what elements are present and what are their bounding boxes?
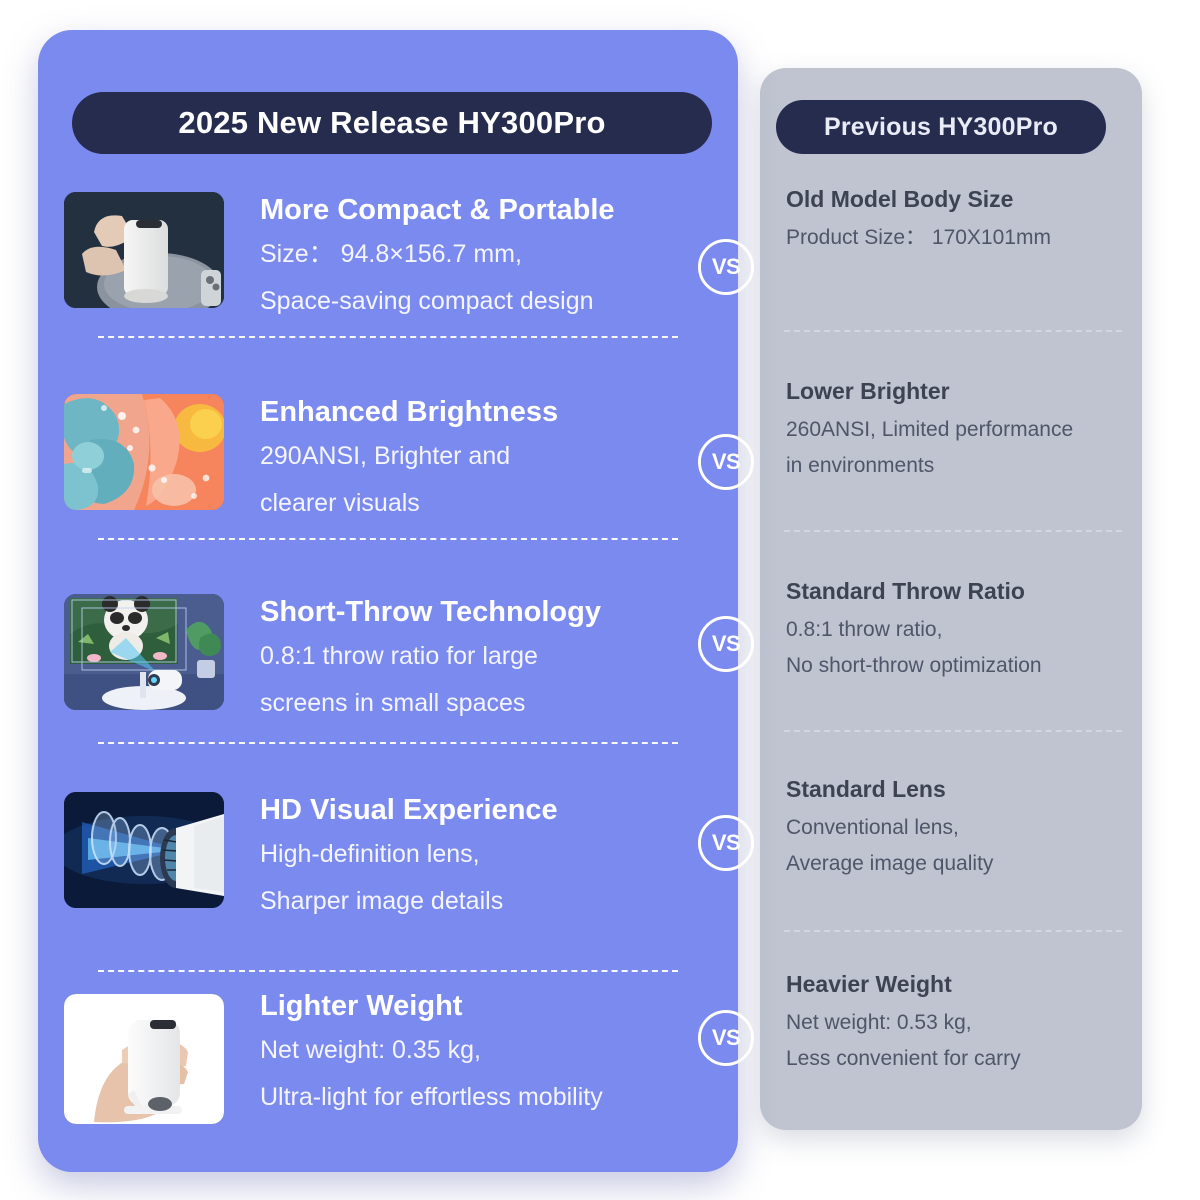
old-feature-desc-line1: 260ANSI, Limited performance [786, 412, 1126, 448]
vs-badge-5: VS [698, 1010, 754, 1066]
old-feature-desc-line1: Conventional lens, [786, 810, 1126, 846]
vs-label: VS [712, 254, 740, 280]
old-feature-desc-line1: Net weight: 0.53 kg, [786, 1005, 1126, 1041]
new-divider-2 [98, 538, 678, 540]
colorful-flower-petals-photo [64, 394, 224, 510]
old-feature-row-2: Lower Brighter 260ANSI, Limited performa… [786, 378, 1126, 484]
vs-label: VS [712, 830, 740, 856]
new-feature-desc-line2: clearer visuals [260, 480, 720, 527]
new-feature-desc-line2: Space-saving compact design [260, 278, 720, 325]
old-divider-4 [784, 930, 1122, 932]
new-feature-desc-line1: Net weight: 0.35 kg, [260, 1027, 720, 1074]
vs-badge-3: VS [698, 616, 754, 672]
new-feature-desc-line2: screens in small spaces [260, 680, 720, 727]
vs-label: VS [712, 631, 740, 657]
vs-badge-1: VS [698, 239, 754, 295]
vs-badge-4: VS [698, 815, 754, 871]
new-feature-title: HD Visual Experience [260, 794, 720, 827]
new-feature-desc-line1: 290ANSI, Brighter and [260, 433, 720, 480]
lens-exploded-view-photo [64, 792, 224, 908]
vs-label: VS [712, 449, 740, 475]
new-release-badge: 2025 New Release HY300Pro [72, 92, 712, 154]
old-feature-desc-line2: No short-throw optimization [786, 648, 1126, 684]
old-feature-desc-line1: Product Size： 170X101mm [786, 220, 1126, 256]
old-feature-row-4: Standard Lens Conventional lens, Average… [786, 776, 1126, 882]
previous-model-badge: Previous HY300Pro [776, 100, 1106, 154]
previous-model-badge-label: Previous HY300Pro [824, 113, 1058, 142]
new-feature-desc-line1: High-definition lens, [260, 831, 720, 878]
new-feature-title: Short-Throw Technology [260, 596, 720, 629]
comparison-infographic: Previous HY300Pro Old Model Body Size Pr… [0, 0, 1200, 1200]
new-divider-3 [98, 742, 678, 744]
old-feature-row-3: Standard Throw Ratio 0.8:1 throw ratio, … [786, 578, 1126, 684]
new-divider-4 [98, 970, 678, 972]
vs-label: VS [712, 1025, 740, 1051]
old-divider-3 [784, 730, 1122, 732]
vs-badge-2: VS [698, 434, 754, 490]
new-feature-desc-line2: Sharper image details [260, 878, 720, 925]
old-divider-1 [784, 330, 1122, 332]
old-feature-row-5: Heavier Weight Net weight: 0.53 kg, Less… [786, 971, 1126, 1077]
old-divider-2 [784, 530, 1122, 532]
old-feature-desc-line1: 0.8:1 throw ratio, [786, 612, 1126, 648]
old-feature-title: Old Model Body Size [786, 186, 1126, 213]
new-feature-title: Lighter Weight [260, 990, 720, 1023]
new-feature-desc-line1: Size： 94.8×156.7 mm, [260, 231, 720, 278]
new-feature-title: Enhanced Brightness [260, 396, 720, 429]
new-feature-desc-line1: 0.8:1 throw ratio for large [260, 633, 720, 680]
hand-holding-projector-photo [64, 994, 224, 1124]
new-release-badge-label: 2025 New Release HY300Pro [178, 105, 605, 141]
old-feature-desc-line2: Average image quality [786, 846, 1126, 882]
old-feature-title: Heavier Weight [786, 971, 1126, 998]
old-feature-desc-line2: Less convenient for carry [786, 1041, 1126, 1077]
new-feature-title: More Compact & Portable [260, 194, 720, 227]
projection-panda-scene-photo [64, 594, 224, 710]
old-feature-title: Standard Throw Ratio [786, 578, 1126, 605]
old-feature-row-1: Old Model Body Size Product Size： 170X10… [786, 186, 1126, 256]
new-release-card: 2025 New Release HY300Pro [38, 30, 738, 1172]
projector-in-backpack-photo [64, 192, 224, 308]
old-feature-desc-line2: in environments [786, 448, 1126, 484]
new-divider-1 [98, 336, 678, 338]
old-feature-title: Lower Brighter [786, 378, 1126, 405]
new-feature-desc-line2: Ultra-light for effortless mobility [260, 1074, 720, 1121]
previous-model-card: Previous HY300Pro Old Model Body Size Pr… [760, 68, 1142, 1130]
old-feature-title: Standard Lens [786, 776, 1126, 803]
